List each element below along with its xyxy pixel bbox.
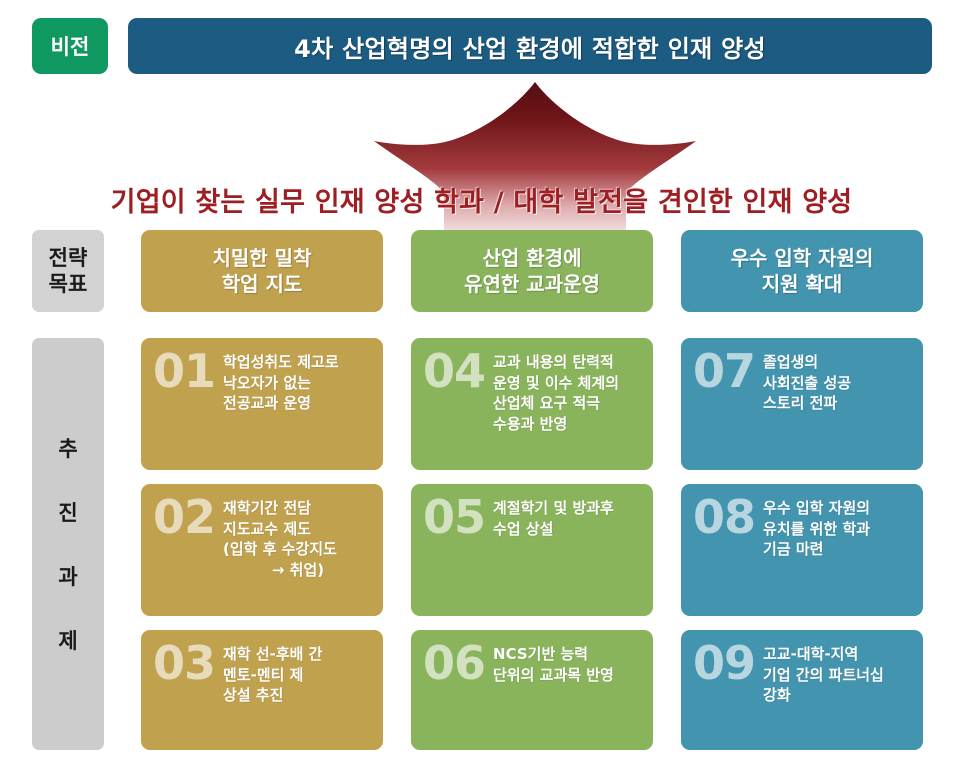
goal-box-1-line2: 학업 지도 [222,271,303,297]
strategic-goal-label-line1: 전략 [49,245,88,271]
task-card-01[interactable]: 01학업성취도 제고로낙오자가 없는전공교과 운영 [141,338,383,470]
goal-box-2[interactable]: 산업 환경에 유연한 교과운영 [411,230,653,312]
task-card-09-number: 09 [693,642,755,684]
task-card-07-text: 졸업생의사회진출 성공스토리 전파 [763,350,913,414]
task-card-05-line-2: 수업 상설 [493,519,643,540]
task-card-09-line-1: 고교-대학-지역 [763,644,913,665]
task-label-char-1: 진 [58,497,77,527]
task-card-02-number: 02 [153,496,215,538]
goal-box-3-line2: 지원 확대 [762,271,843,297]
task-card-03-line-3: 상설 추진 [223,685,373,706]
vision-badge: 비전 [32,18,108,74]
task-card-06-number: 06 [423,642,485,684]
task-card-07-line-1: 졸업생의 [763,352,913,373]
task-card-08-line-2: 유치를 위한 학과 [763,519,913,540]
task-card-02-line-1: 재학기간 전담 [223,498,373,519]
task-card-04-line-1: 교과 내용의 탄력적 [493,352,643,373]
task-card-07[interactable]: 07졸업생의사회진출 성공스토리 전파 [681,338,923,470]
task-card-08-line-3: 기금 마련 [763,539,913,560]
task-card-01-line-2: 낙오자가 없는 [223,373,373,394]
task-card-02-text: 재학기간 전담지도교수 제도(입학 후 수강지도→ 취업) [223,496,373,581]
task-label-char-0: 추 [58,433,77,463]
goal-box-1-line1: 치밀한 밀착 [213,245,312,271]
task-card-06[interactable]: 06NCS기반 능력단위의 교과목 반영 [411,630,653,750]
task-card-09-text: 고교-대학-지역기업 간의 파트너십강화 [763,642,913,706]
task-card-04-line-3: 산업체 요구 적극 [493,393,643,414]
task-card-07-line-3: 스토리 전파 [763,393,913,414]
goal-box-3[interactable]: 우수 입학 자원의 지원 확대 [681,230,923,312]
task-card-08[interactable]: 08우수 입학 자원의유치를 위한 학과기금 마련 [681,484,923,616]
strategic-goal-label: 전략 목표 [32,230,104,312]
task-card-01-number: 01 [153,350,215,392]
task-card-05-number: 05 [423,496,485,538]
task-card-01-text: 학업성취도 제고로낙오자가 없는전공교과 운영 [223,350,373,414]
vision-title: 4차 산업혁명의 산업 환경에 적합한 인재 양성 [128,18,932,74]
goal-box-1[interactable]: 치밀한 밀착 학업 지도 [141,230,383,312]
task-label-char-3: 제 [58,625,77,655]
task-label: 추 진 과 제 [32,338,104,750]
task-card-02-line-4: → 취업) [223,560,373,581]
goal-box-2-line1: 산업 환경에 [483,245,582,271]
task-card-09-line-3: 강화 [763,685,913,706]
task-card-01-line-3: 전공교과 운영 [223,393,373,414]
goal-box-3-line1: 우수 입학 자원의 [731,245,874,271]
task-card-03-line-1: 재학 선-후배 간 [223,644,373,665]
task-card-08-text: 우수 입학 자원의유치를 위한 학과기금 마련 [763,496,913,560]
task-card-05-line-1: 계절학기 및 방과후 [493,498,643,519]
task-card-05[interactable]: 05계절학기 및 방과후수업 상설 [411,484,653,616]
task-card-06-text: NCS기반 능력단위의 교과목 반영 [493,642,643,685]
goal-box-2-line2: 유연한 교과운영 [464,271,600,297]
slogan-text: 기업이 찾는 실무 인재 양성 학과 / 대학 발전을 견인한 인재 양성 [0,180,963,219]
task-card-01-line-1: 학업성취도 제고로 [223,352,373,373]
task-card-04-number: 04 [423,350,485,392]
task-card-06-line-2: 단위의 교과목 반영 [493,665,643,686]
task-card-03-number: 03 [153,642,215,684]
task-card-03-text: 재학 선-후배 간멘토-멘티 제상설 추진 [223,642,373,706]
task-label-char-2: 과 [58,561,77,591]
task-card-03-line-2: 멘토-멘티 제 [223,665,373,686]
task-card-04-text: 교과 내용의 탄력적운영 및 이수 체계의산업체 요구 적극수용과 반영 [493,350,643,435]
task-card-04-line-2: 운영 및 이수 체계의 [493,373,643,394]
task-card-07-number: 07 [693,350,755,392]
task-card-02[interactable]: 02재학기간 전담지도교수 제도(입학 후 수강지도→ 취업) [141,484,383,616]
vision-row: 비전 4차 산업혁명의 산업 환경에 적합한 인재 양성 [32,18,932,74]
task-card-08-line-1: 우수 입학 자원의 [763,498,913,519]
strategic-goal-label-line2: 목표 [49,271,88,297]
task-card-07-line-2: 사회진출 성공 [763,373,913,394]
task-card-03[interactable]: 03재학 선-후배 간멘토-멘티 제상설 추진 [141,630,383,750]
task-card-09[interactable]: 09고교-대학-지역기업 간의 파트너십강화 [681,630,923,750]
task-card-08-number: 08 [693,496,755,538]
task-card-06-line-1: NCS기반 능력 [493,644,643,665]
diagram-canvas: 비전 4차 산업혁명의 산업 환경에 적합한 인재 양성 기업이 찾는 실무 인… [0,0,963,776]
task-card-05-text: 계절학기 및 방과후수업 상설 [493,496,643,539]
task-card-02-line-3: (입학 후 수강지도 [223,539,373,560]
task-card-04[interactable]: 04교과 내용의 탄력적운영 및 이수 체계의산업체 요구 적극수용과 반영 [411,338,653,470]
task-card-04-line-4: 수용과 반영 [493,414,643,435]
task-card-02-line-2: 지도교수 제도 [223,519,373,540]
task-card-09-line-2: 기업 간의 파트너십 [763,665,913,686]
